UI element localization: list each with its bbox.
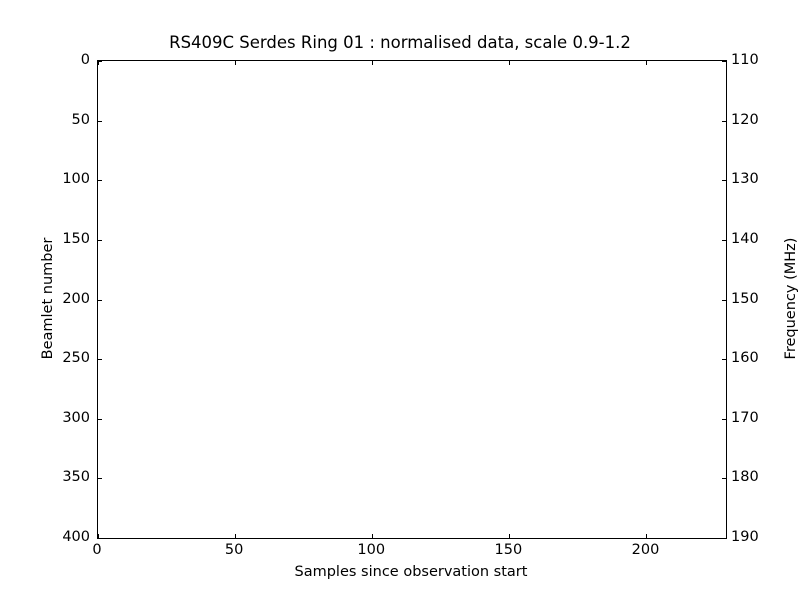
plot-data-region [98,61,726,538]
y-tick-mark-right [722,180,726,181]
x-tick-mark [509,61,510,65]
y-tick-mark-left [98,180,102,181]
x-tick-label: 0 [92,543,101,558]
y-tick-mark-right [722,359,726,360]
y-tick-label-right: 110 [731,53,759,68]
x-tick-mark [509,534,510,538]
y-tick-label-right: 160 [731,351,759,366]
y-tick-label-right: 180 [731,470,759,485]
y-tick-mark-left [98,121,102,122]
figure-canvas: RS409C Serdes Ring 01 : normalised data,… [0,0,800,600]
plot-area[interactable] [97,60,727,539]
x-tick-mark [372,534,373,538]
x-axis-label: Samples since observation start [97,563,725,581]
y-tick-mark-right [722,419,726,420]
y-tick-mark-left [98,419,102,420]
y-tick-mark-right [722,478,726,479]
x-tick-mark [235,534,236,538]
y-axis-right-label: Frequency (MHz) [781,60,800,537]
y-tick-mark-left [98,478,102,479]
y-tick-mark-right [722,538,726,539]
y-tick-mark-right [722,121,726,122]
y-tick-label-right: 170 [731,411,759,426]
y-tick-mark-right [722,240,726,241]
y-tick-mark-right [722,61,726,62]
y-tick-mark-left [98,359,102,360]
chart-title: RS409C Serdes Ring 01 : normalised data,… [0,33,800,53]
x-tick-label: 50 [225,543,243,558]
y-tick-label-right: 190 [731,530,759,545]
y-tick-mark-left [98,300,102,301]
y-tick-label-right: 150 [731,292,759,307]
y-tick-label-right: 120 [731,113,759,128]
x-tick-mark [235,61,236,65]
y-tick-label-right: 140 [731,232,759,247]
y-tick-mark-left [98,240,102,241]
y-tick-mark-left [98,61,102,62]
x-tick-label: 200 [632,543,660,558]
y-axis-left-label: Beamlet number [38,60,58,537]
x-tick-mark [646,61,647,65]
y-tick-label-right: 130 [731,172,759,187]
x-tick-mark [372,61,373,65]
x-tick-mark [646,534,647,538]
y-tick-mark-right [722,300,726,301]
x-tick-label: 150 [495,543,523,558]
y-tick-mark-left [98,538,102,539]
x-tick-label: 100 [357,543,385,558]
